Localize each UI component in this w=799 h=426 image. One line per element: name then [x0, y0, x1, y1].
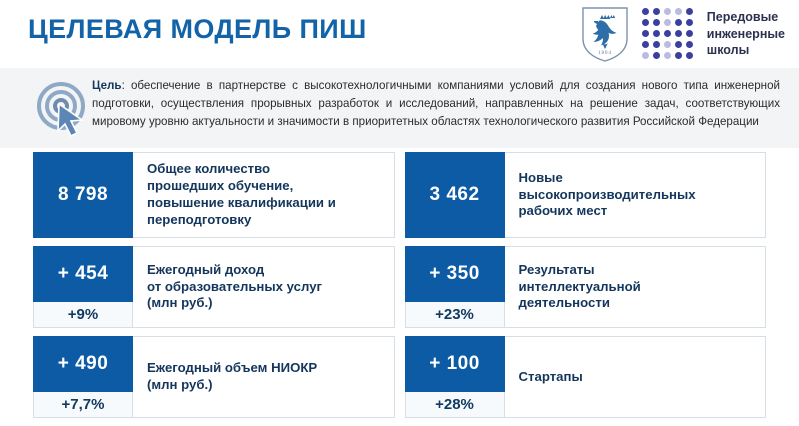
- goal-label: Цель: [92, 79, 122, 92]
- metric-label-box: Стартапы: [505, 336, 767, 418]
- page-title: ЦЕЛЕВАЯ МОДЕЛЬ ПИШ: [28, 14, 367, 45]
- university-crest-icon: 1804: [580, 5, 630, 63]
- metric-label-box: Новые высокопроизводительных рабочих мес…: [505, 152, 767, 238]
- metric-value-box: 8 798: [33, 152, 133, 238]
- metric-row: 8 798 Общее количество прошедших обучени…: [0, 152, 799, 238]
- metric-label: Новые высокопроизводительных рабочих мес…: [519, 170, 696, 221]
- metrics-grid: 8 798 Общее количество прошедших обучени…: [0, 152, 799, 426]
- metric-label: Стартапы: [519, 369, 583, 386]
- slide-header: ЦЕЛЕВАЯ МОДЕЛЬ ПИШ 1804: [0, 0, 799, 68]
- metric-percent: +7,7%: [33, 392, 133, 418]
- metric-card[interactable]: 3 462 Новые высокопроизводительных рабоч…: [405, 152, 767, 238]
- metric-label-box: Результаты интеллектуальной деятельности: [505, 246, 767, 328]
- metric-label-box: Ежегодный доход от образовательных услуг…: [133, 246, 395, 328]
- metric-percent: +28%: [405, 392, 505, 418]
- crest-year: 1804: [598, 51, 612, 56]
- logo-wordmark: Передовые инженерные школы: [707, 9, 785, 59]
- metric-value: + 490: [33, 336, 133, 392]
- metric-value-box: + 454 +9%: [33, 246, 133, 328]
- metric-card[interactable]: + 490 +7,7% Ежегодный объем НИОКР (млн р…: [33, 336, 395, 418]
- metric-value: 3 462: [405, 152, 505, 238]
- metric-card[interactable]: 8 798 Общее количество прошедших обучени…: [33, 152, 395, 238]
- metric-label: Общее количество прошедших обучение, пов…: [147, 161, 336, 229]
- metric-label: Ежегодный объем НИОКР (млн руб.): [147, 360, 317, 394]
- metric-label: Результаты интеллектуальной деятельности: [519, 262, 641, 313]
- metric-value: + 100: [405, 336, 505, 392]
- metric-label: Ежегодный доход от образовательных услуг…: [147, 262, 322, 313]
- metric-value-box: 3 462: [405, 152, 505, 238]
- metric-value: + 454: [33, 246, 133, 302]
- metric-value-box: + 350 +23%: [405, 246, 505, 328]
- metric-label-box: Общее количество прошедших обучение, пов…: [133, 152, 395, 238]
- goal-body: обеспечение в партнерстве с высокотехнол…: [92, 79, 780, 128]
- metric-label-box: Ежегодный объем НИОКР (млн руб.): [133, 336, 395, 418]
- metric-row: + 454 +9% Ежегодный доход от образовател…: [0, 246, 799, 328]
- metric-card[interactable]: + 100 +28% Стартапы: [405, 336, 767, 418]
- metric-value-box: + 490 +7,7%: [33, 336, 133, 418]
- metric-value: + 350: [405, 246, 505, 302]
- metric-value: 8 798: [33, 152, 133, 238]
- metric-card[interactable]: + 350 +23% Результаты интеллектуальной д…: [405, 246, 767, 328]
- metric-value-box: + 100 +28%: [405, 336, 505, 418]
- goal-statement: Цель: обеспечение в партнерстве с высоко…: [92, 77, 780, 131]
- logo-group: 1804 Передовые инженерные школы: [580, 4, 785, 64]
- goal-separator: :: [122, 79, 131, 92]
- pish-dots-logo-icon: [642, 8, 695, 61]
- metric-row: + 490 +7,7% Ежегодный объем НИОКР (млн р…: [0, 336, 799, 418]
- target-cursor-icon: [34, 76, 92, 138]
- metric-percent: +9%: [33, 302, 133, 328]
- metric-card[interactable]: + 454 +9% Ежегодный доход от образовател…: [33, 246, 395, 328]
- metric-percent: +23%: [405, 302, 505, 328]
- goal-section: Цель: обеспечение в партнерстве с высоко…: [0, 68, 799, 148]
